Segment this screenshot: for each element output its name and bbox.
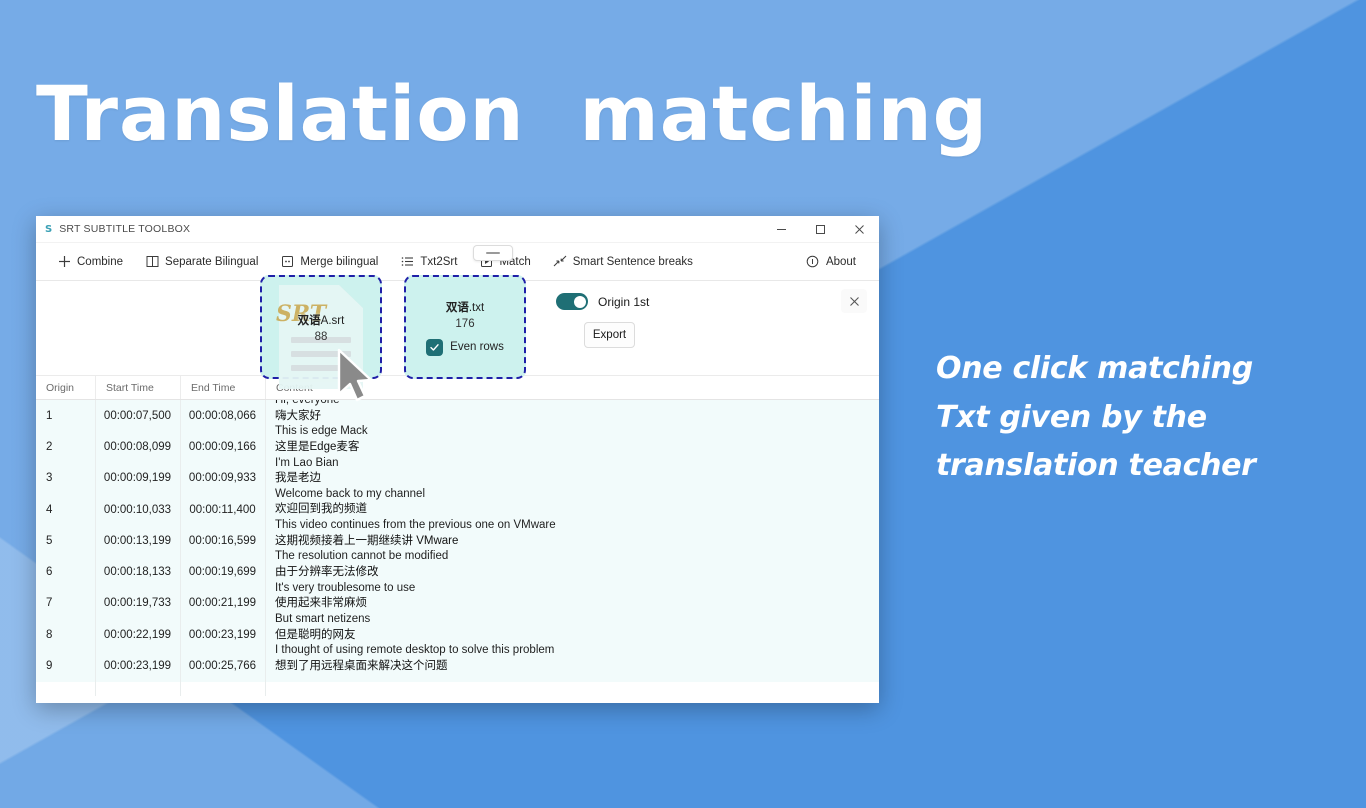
even-rows-label: Even rows: [450, 341, 504, 353]
close-button[interactable]: [840, 216, 879, 242]
srt-file-name: 双语A.srt: [298, 312, 345, 328]
tab-smart-sentence-breaks[interactable]: Smart Sentence breaks: [542, 243, 704, 280]
list-icon: [400, 255, 414, 269]
window-title: SRT SUBTITLE TOOLBOX: [59, 223, 190, 235]
minimize-button[interactable]: [762, 216, 801, 242]
info-icon: [806, 255, 820, 269]
cell-origin: 9: [36, 650, 95, 681]
panel-controls: Origin 1st Export: [556, 293, 649, 348]
app-window: S SRT SUBTITLE TOOLBOX Combine S: [36, 216, 879, 703]
table-header: Origin Start Time End Time Content: [36, 376, 879, 400]
cell-end-time: 00:00:23,199: [180, 619, 265, 650]
tab-combine-label: Combine: [77, 256, 123, 268]
cell-start-time: 00:00:19,733: [95, 588, 180, 619]
tab-separate-bilingual[interactable]: Separate Bilingual: [134, 243, 269, 280]
caption-line-2: Txt given by the: [936, 394, 1336, 443]
cell-end-time: 00:00:09,166: [180, 431, 265, 462]
window-controls: [762, 216, 879, 242]
origin-first-label: Origin 1st: [598, 295, 649, 309]
column-header-end-time[interactable]: End Time: [180, 376, 265, 399]
cell-start-time: 00:00:07,500: [95, 400, 180, 431]
cell-start-time: 00:00:09,199: [95, 463, 180, 494]
table-row[interactable]: 700:00:19,73300:00:21,199It's very troub…: [36, 588, 879, 619]
column-header-origin[interactable]: Origin: [36, 376, 95, 399]
page-title: Translation matching: [36, 76, 988, 152]
tab-merge-bilingual-label: Merge bilingual: [300, 256, 378, 268]
cell-end-time: 00:00:16,599: [180, 525, 265, 556]
cell-origin: 6: [36, 556, 95, 587]
caption-line-3: translation teacher: [936, 442, 1336, 491]
cell-end-time: 00:00:09,933: [180, 463, 265, 494]
cell-origin: 7: [36, 588, 95, 619]
export-button[interactable]: Export: [584, 322, 635, 348]
even-rows-checkbox[interactable]: Even rows: [426, 339, 504, 356]
cell-origin: 1: [36, 400, 95, 431]
caption-line-1: One click matching: [936, 345, 1336, 394]
origin-first-toggle[interactable]: Origin 1st: [556, 293, 649, 310]
cell-content: This is edge Mack这里是Edge麦客: [265, 431, 879, 462]
tab-smart-sentence-breaks-label: Smart Sentence breaks: [573, 256, 693, 268]
txt-file-card[interactable]: 双语.txt 176 Even rows: [404, 275, 526, 379]
tab-separate-bilingual-label: Separate Bilingual: [165, 256, 258, 268]
file-cards: SRT 双语A.srt 88 双语.txt 176 Even rows: [260, 275, 526, 379]
match-drop-panel: SRT 双语A.srt 88 双语.txt 176 Even rows: [36, 281, 879, 376]
plus-icon: [57, 255, 71, 269]
table-row[interactable]: 500:00:13,19900:00:16,599This video cont…: [36, 525, 879, 556]
table-body-viewport[interactable]: 100:00:07,50000:00:08,066Hi, everyone嗨大家…: [36, 400, 879, 696]
subtitle-table: Origin Start Time End Time Content 100:0…: [36, 376, 879, 696]
srt-file-card[interactable]: SRT 双语A.srt 88: [260, 275, 382, 379]
table-rows: 100:00:07,50000:00:08,066Hi, everyone嗨大家…: [36, 400, 879, 682]
cell-end-time: 00:00:25,766: [180, 650, 265, 681]
cell-content: I thought of using remote desktop to sol…: [265, 650, 879, 681]
merge-icon: [280, 255, 294, 269]
break-arrows-icon: [553, 255, 567, 269]
toggle-knob: [574, 296, 586, 308]
toggle-switch[interactable]: [556, 293, 588, 310]
table-row[interactable]: 900:00:23,19900:00:25,766I thought of us…: [36, 650, 879, 681]
table-row[interactable]: 300:00:09,19900:00:09,933I'm Lao Bian我是老…: [36, 463, 879, 494]
tab-combine[interactable]: Combine: [46, 243, 134, 280]
cell-end-time: 00:00:08,066: [180, 400, 265, 431]
cell-origin: 5: [36, 525, 95, 556]
cell-start-time: 00:00:23,199: [95, 650, 180, 681]
cell-start-time: 00:00:08,099: [95, 431, 180, 462]
cell-end-time: 00:00:11,400: [180, 494, 265, 525]
cell-origin: 2: [36, 431, 95, 462]
cell-origin: 3: [36, 463, 95, 494]
table-row[interactable]: 100:00:07,50000:00:08,066Hi, everyone嗨大家…: [36, 400, 879, 431]
poster-caption: One click matching Txt given by the tran…: [936, 345, 1336, 491]
book-open-icon: [145, 255, 159, 269]
table-row[interactable]: 200:00:08,09900:00:09,166This is edge Ma…: [36, 431, 879, 462]
cell-end-time: 00:00:21,199: [180, 588, 265, 619]
maximize-button[interactable]: [801, 216, 840, 242]
srt-file-count: 88: [315, 331, 328, 343]
txt-file-name: 双语.txt: [446, 299, 484, 315]
cell-start-time: 00:00:10,033: [95, 494, 180, 525]
check-icon: [426, 339, 443, 356]
about-label: About: [826, 256, 856, 268]
tab-txt2srt-label: Txt2Srt: [420, 256, 457, 268]
panel-close-button[interactable]: [841, 289, 867, 313]
txt-file-count: 176: [455, 318, 474, 330]
cell-start-time: 00:00:13,199: [95, 525, 180, 556]
cell-origin: 4: [36, 494, 95, 525]
cell-end-time: 00:00:19,699: [180, 556, 265, 587]
table-row[interactable]: 600:00:18,13300:00:19,699The resolution …: [36, 556, 879, 587]
about-button[interactable]: About: [795, 243, 867, 280]
column-header-start-time[interactable]: Start Time: [95, 376, 180, 399]
app-logo-icon: S: [45, 224, 52, 235]
title-bar: S SRT SUBTITLE TOOLBOX: [36, 216, 879, 243]
toolbar-tooltip-chip: [473, 245, 513, 261]
cell-start-time: 00:00:18,133: [95, 556, 180, 587]
cell-origin: 8: [36, 619, 95, 650]
cell-start-time: 00:00:22,199: [95, 619, 180, 650]
